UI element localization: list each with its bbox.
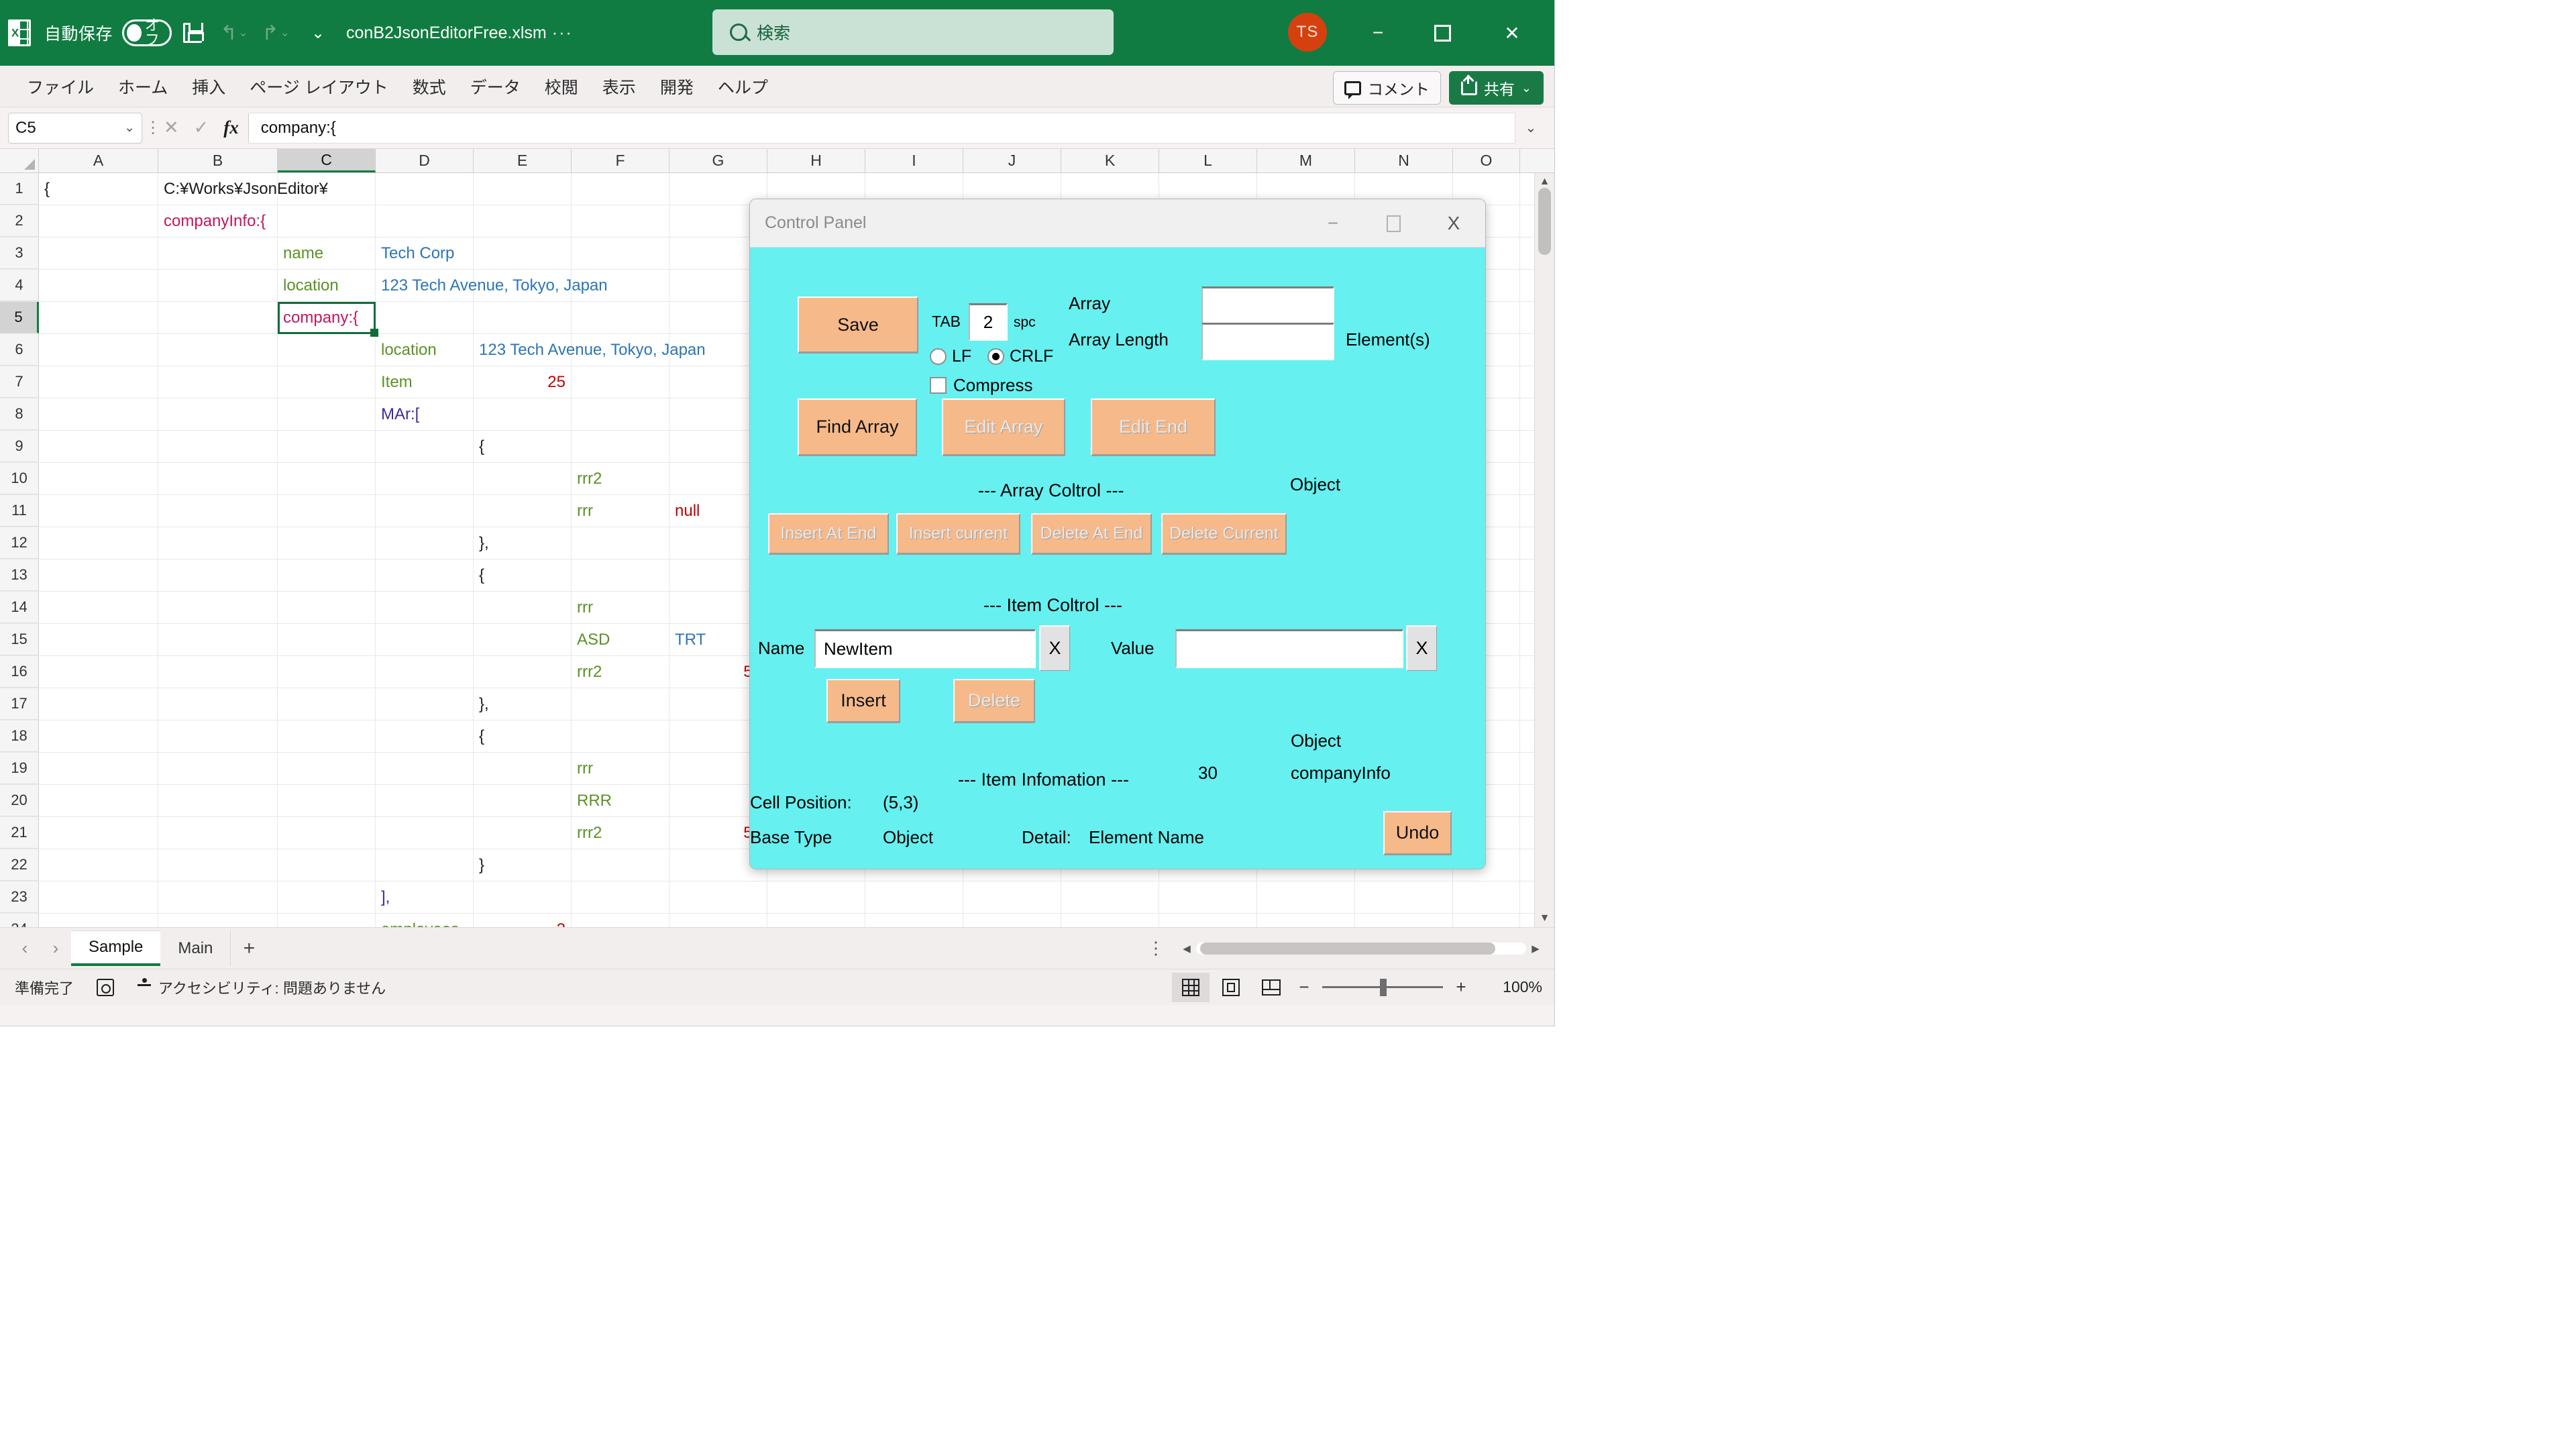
row-header-10[interactable]: 10 [0,463,39,494]
cell-E7[interactable]: 25 [474,366,572,398]
ribbon-right-actions: コメント 共有 ⌄ [1333,71,1544,105]
cell-M23[interactable] [1257,881,1355,913]
cell-E11[interactable] [474,495,572,527]
expand-formula-bar-icon[interactable]: ⌄ [1515,119,1546,136]
column-header-l[interactable]: L [1159,149,1257,172]
cell-F19[interactable]: rrr [572,753,669,784]
formula-bar-divider: ⋮ [152,115,154,142]
row-header-18[interactable]: 18 [0,720,39,752]
row-header-5[interactable]: 5 [0,302,39,333]
cell-B23[interactable] [158,881,278,913]
sheet-options-icon[interactable]: ⋮ [1147,938,1166,959]
row-header-22[interactable]: 22 [0,849,39,881]
save-icon[interactable] [172,0,213,66]
cell-E3[interactable] [474,237,572,269]
cell-D1[interactable] [376,173,474,205]
cell-D10[interactable] [376,463,474,494]
cell-D15[interactable] [376,624,474,655]
cell-C20[interactable] [278,785,376,816]
cell-C23[interactable] [278,881,376,913]
zoom-level-label[interactable]: 100% [1482,978,1542,996]
clear-name-button[interactable]: X [1039,625,1070,671]
cell-F3[interactable] [572,237,669,269]
column-header-b[interactable]: B [158,149,278,172]
chevron-left-icon[interactable]: ‹ [9,933,40,964]
array-input[interactable] [1201,286,1334,324]
cell-A4[interactable] [39,270,158,301]
cell-E8[interactable] [474,398,572,430]
cell-D5[interactable] [376,302,474,333]
cell-C3[interactable]: name [278,237,376,269]
info-basetype-object-label: Object [1291,731,1341,751]
cell-A15[interactable] [39,624,158,655]
cell-A18[interactable] [39,720,158,752]
column-header-h[interactable]: H [767,149,865,172]
cancel-icon[interactable]: ✕ [164,117,179,138]
cell-D12[interactable] [376,527,474,559]
cell-C12[interactable] [278,527,376,559]
comments-label: コメント [1368,76,1430,99]
cell-A8[interactable] [39,398,158,430]
tab-formulas[interactable]: 数式 [402,71,457,102]
cell-D20[interactable] [376,785,474,816]
cell-E23[interactable] [474,881,572,913]
cell-C13[interactable] [278,559,376,591]
accessibility-status[interactable]: アクセシビリティ: 問題ありません [137,977,386,998]
radio-crlf-label: CRLF [1010,347,1053,366]
hscroll-left-icon[interactable]: ◀ [1177,943,1196,955]
status-bar-right: − + 100% [1172,973,1542,1002]
accessibility-label: アクセシビリティ: 問題ありません [158,977,386,998]
name-box[interactable]: C5 ⌄ [8,113,142,144]
scroll-down-icon[interactable]: ▼ [1535,910,1554,927]
cell-A16[interactable] [39,656,158,688]
cell-A9[interactable] [39,431,158,462]
cell-C15[interactable] [278,624,376,655]
cell-E10[interactable] [474,463,572,494]
cell-O23[interactable] [1453,881,1520,913]
clear-value-button[interactable]: X [1406,625,1437,671]
row-header-4[interactable]: 4 [0,270,39,301]
control-panel-body: Save TAB 2 spc LF CRLF Compress Array Ar… [750,248,1485,869]
row-header-12[interactable]: 12 [0,527,39,559]
column-header-k[interactable]: K [1061,149,1159,172]
autosave-label: 自動保存 [44,21,113,45]
cell-D3[interactable]: Tech Corp [376,237,474,269]
row-header-23[interactable]: 23 [0,881,39,913]
insert-function-icon[interactable]: fx [223,117,239,138]
cell-F8[interactable] [572,398,669,430]
edit-end-button: Edit End [1091,398,1216,456]
hscroll-right-icon[interactable]: ▶ [1526,943,1545,955]
column-header-i[interactable]: I [865,149,963,172]
confirm-icon[interactable]: ✓ [194,117,209,138]
horizontal-scroll-thumb[interactable] [1200,943,1495,955]
column-header-m[interactable]: M [1257,149,1355,172]
search-input[interactable]: 検索 [712,9,1114,55]
cell-B1[interactable]: C:¥Works¥JsonEditor¥ [158,173,278,205]
vertical-scrollbar[interactable]: ▲ ▼ [1534,173,1554,927]
control-panel-minimize-button[interactable]: − [1304,199,1362,248]
cell-A3[interactable] [39,237,158,269]
cell-E16[interactable] [474,656,572,688]
select-all-corner[interactable] [0,149,39,172]
cell-E12[interactable]: }, [474,527,572,559]
column-header-o[interactable]: O [1453,149,1520,172]
cell-F12[interactable] [572,527,669,559]
cell-E13[interactable]: { [474,559,572,591]
autosave-toggle[interactable]: オフ [122,19,172,46]
cell-F18[interactable] [572,720,669,752]
cell-C18[interactable] [278,720,376,752]
tab-label: TAB [932,313,961,331]
cell-A11[interactable] [39,495,158,527]
comments-button[interactable]: コメント [1333,71,1441,105]
column-header-d[interactable]: D [376,149,474,172]
compress-label: Compress [953,375,1032,396]
row-header-6[interactable]: 6 [0,334,39,366]
insert-current-button: Insert current [896,513,1020,555]
cell-C8[interactable] [278,398,376,430]
window-close-button[interactable]: ✕ [1476,0,1548,66]
row-header-19[interactable]: 19 [0,753,39,784]
cell-F4[interactable] [572,270,669,301]
tab-size-input[interactable]: 2 [969,303,1008,341]
add-sheet-button[interactable]: + [231,931,267,966]
cell-D2[interactable] [376,205,474,237]
save-button[interactable]: Save [798,297,918,354]
cell-B15[interactable] [158,624,278,655]
cell-D11[interactable] [376,495,474,527]
screenshot-root: 自動保存 オフ ↰⌄ ↱⌄ ⌄ conB2JsonEditorFree.xlsm… [0,0,2576,1449]
detail-value: Element Name [1089,827,1204,848]
cell-E21[interactable] [474,817,572,849]
cell-B2[interactable]: companyInfo:{ [158,205,278,237]
name-box-value: C5 [15,119,36,138]
cell-B22[interactable] [158,849,278,881]
control-panel-titlebar[interactable]: Control Panel − X [750,199,1485,248]
cell-A6[interactable] [39,334,158,366]
column-header-e[interactable]: E [474,149,572,172]
cell-B19[interactable] [158,753,278,784]
cell-B18[interactable] [158,720,278,752]
row-header-11[interactable]: 11 [0,495,39,527]
cell-E18[interactable]: { [474,720,572,752]
cell-E6[interactable]: 123 Tech Avenue, Tokyo, Japan [474,334,572,366]
cell-E20[interactable] [474,785,572,816]
delete-button: Delete [953,679,1035,723]
sheet-tab-sample[interactable]: Sample [71,931,160,966]
cell-F15[interactable]: ASD [572,624,669,655]
cell-B11[interactable] [158,495,278,527]
cell-B4[interactable] [158,270,278,301]
formula-input[interactable]: company:{ [248,113,1515,144]
array-control-header: --- Array Coltrol --- [978,480,1124,501]
undo-icon[interactable]: ↰⌄ [213,0,255,66]
cell-D7[interactable]: Item [376,366,474,398]
cell-B6[interactable] [158,334,278,366]
cell-F9[interactable] [572,431,669,462]
cell-C7[interactable] [278,366,376,398]
cell-A17[interactable] [39,688,158,720]
cell-F2[interactable] [572,205,669,237]
cell-A2[interactable] [39,205,158,237]
grid-row: 23], [0,881,1554,914]
cell-A13[interactable] [39,559,158,591]
horizontal-scroll-track[interactable] [1196,943,1526,955]
value-input[interactable] [1175,629,1403,668]
zoom-slider[interactable] [1322,986,1443,988]
cell-D19[interactable] [376,753,474,784]
column-header-j[interactable]: J [963,149,1061,172]
tab-review[interactable]: 校閲 [534,71,589,102]
tab-file[interactable]: ファイル [16,71,105,102]
sheet-tabbar: ‹ › Sample Main + ⋮ ◀ ▶ [0,927,1554,969]
row-header-14[interactable]: 14 [0,592,39,623]
row-header-21[interactable]: 21 [0,817,39,849]
cell-C6[interactable] [278,334,376,366]
avatar[interactable]: TS [1288,13,1327,52]
cell-C22[interactable] [278,849,376,881]
cell-C21[interactable] [278,817,376,849]
accessibility-icon [137,978,152,997]
cell-H23[interactable] [767,881,865,913]
tab-data[interactable]: データ [460,71,531,102]
cell-E1[interactable] [474,173,572,205]
cell-E15[interactable] [474,624,572,655]
cell-C10[interactable] [278,463,376,494]
cell-E14[interactable] [474,592,572,623]
cell-F1[interactable] [572,173,669,205]
cell-C11[interactable] [278,495,376,527]
radio-lf-label: LF [952,347,971,366]
cell-F16[interactable]: rrr2 [572,656,669,688]
filename-more-icon[interactable]: ··· [552,23,573,43]
redo-icon[interactable]: ↱⌄ [255,0,297,66]
row-header-9[interactable]: 9 [0,431,39,462]
cell-N23[interactable] [1355,881,1453,913]
find-array-button[interactable]: Find Array [798,398,917,456]
cell-D4[interactable]: 123 Tech Avenue, Tokyo, Japan [376,270,474,301]
record-macro-icon [97,979,114,996]
cell-A7[interactable] [39,366,158,398]
cell-E5[interactable] [474,302,572,333]
cell-B13[interactable] [158,559,278,591]
cell-B21[interactable] [158,817,278,849]
zoom-in-button[interactable]: + [1450,977,1472,998]
cell-B3[interactable] [158,237,278,269]
cell-C1[interactable] [278,173,376,205]
cell-D16[interactable] [376,656,474,688]
cell-B7[interactable] [158,366,278,398]
item-control-header: --- Item Coltrol --- [983,595,1122,616]
page-layout-view-icon[interactable] [1212,973,1250,1002]
info-number-label: 30 [1198,763,1218,784]
cell-C4[interactable]: location [278,270,376,301]
cell-C2[interactable] [278,205,376,237]
cell-D13[interactable] [376,559,474,591]
cell-B5[interactable] [158,302,278,333]
tab-insert[interactable]: 挿入 [181,71,236,102]
window-minimize-button[interactable]: − [1342,0,1414,66]
formula-bar-icons: ✕ ✓ fx [164,117,239,138]
name-label: Name [758,638,804,659]
column-header-n[interactable]: N [1355,149,1453,172]
value-label: Value [1111,638,1155,659]
cell-C17[interactable] [278,688,376,720]
cell-B8[interactable] [158,398,278,430]
radio-crlf-icon [987,348,1004,365]
cell-E9[interactable]: { [474,431,572,462]
array-length-input[interactable] [1201,323,1334,360]
control-panel-dialog: Control Panel − X Save TAB 2 spc LF CRLF… [749,199,1486,869]
customize-quick-access-icon[interactable]: ⌄ [297,0,338,66]
cell-F11[interactable]: rrr [572,495,669,527]
status-mode-label: 準備完了 [15,977,74,998]
cell-A10[interactable] [39,463,158,494]
cell-C14[interactable] [278,592,376,623]
row-header-1[interactable]: 1 [0,173,39,205]
name-input[interactable]: NewItem [814,629,1036,668]
column-header-c[interactable]: C [278,149,376,172]
cell-A1[interactable]: { [39,173,158,205]
cell-G23[interactable] [669,881,767,913]
cell-J23[interactable] [963,881,1061,913]
cell-F14[interactable]: rrr [572,592,669,623]
share-label: 共有 [1484,76,1515,99]
window-maximize-button[interactable] [1406,0,1479,66]
cell-A22[interactable] [39,849,158,881]
tab-view[interactable]: 表示 [592,71,647,102]
cell-E17[interactable]: }, [474,688,572,720]
zoom-out-button[interactable]: − [1293,977,1316,998]
cell-B10[interactable] [158,463,278,494]
tab-page-layout[interactable]: ページ レイアウト [239,71,398,102]
row-header-15[interactable]: 15 [0,624,39,655]
row-header-7[interactable]: 7 [0,366,39,398]
cell-E22[interactable]: } [474,849,572,881]
cell-D6[interactable]: location [376,334,474,366]
cell-C19[interactable] [278,753,376,784]
row-header-16[interactable]: 16 [0,656,39,688]
spc-label: spc [1014,315,1036,331]
normal-view-icon[interactable] [1172,973,1210,1002]
cell-E4[interactable] [474,270,572,301]
horizontal-scrollbar[interactable]: ◀ ▶ [1177,939,1545,958]
cell-F20[interactable]: RRR [572,785,669,816]
row-header-20[interactable]: 20 [0,785,39,816]
tab-developer[interactable]: 開発 [649,71,704,102]
cell-D21[interactable] [376,817,474,849]
cell-F6[interactable] [572,334,669,366]
cell-A12[interactable] [39,527,158,559]
cell-D14[interactable] [376,592,474,623]
cell-F23[interactable] [572,881,669,913]
cell-F10[interactable]: rrr2 [572,463,669,494]
cell-L23[interactable] [1159,881,1257,913]
cell-B20[interactable] [158,785,278,816]
delete-at-end-button: Delete At End [1031,513,1152,555]
column-header-f[interactable]: F [572,149,669,172]
record-macro-button[interactable] [97,979,114,996]
cell-C9[interactable] [278,431,376,462]
row-header-2[interactable]: 2 [0,205,39,237]
radio-lf[interactable]: LF [930,347,971,366]
share-icon [1461,80,1477,95]
comment-icon [1344,81,1361,95]
document-filename: conB2JsonEditorFree.xlsm [346,23,547,43]
control-panel-close-button[interactable]: X [1425,199,1483,248]
row-header-13[interactable]: 13 [0,559,39,591]
cell-A21[interactable] [39,817,158,849]
cell-D18[interactable] [376,720,474,752]
cell-B16[interactable] [158,656,278,688]
sheet-tab-main[interactable]: Main [160,931,231,966]
window-titlebar: 自動保存 オフ ↰⌄ ↱⌄ ⌄ conB2JsonEditorFree.xlsm… [0,0,1554,66]
column-header-g[interactable]: G [669,149,767,172]
control-panel-maximize-button[interactable] [1364,199,1422,248]
cell-F13[interactable] [572,559,669,591]
cell-F5[interactable] [572,302,669,333]
cell-C5[interactable]: company:{ [278,302,376,333]
cell-B17[interactable] [158,688,278,720]
radio-crlf[interactable]: CRLF [987,347,1053,366]
cell-D17[interactable] [376,688,474,720]
cell-D23[interactable]: ], [376,881,474,913]
row-header-17[interactable]: 17 [0,688,39,720]
cell-D8[interactable]: MAr:[ [376,398,474,430]
cell-B14[interactable] [158,592,278,623]
info-name-label: companyInfo [1291,763,1391,784]
compress-checkbox[interactable]: Compress [930,375,1032,396]
share-button[interactable]: 共有 ⌄ [1449,71,1544,105]
cell-F21[interactable]: rrr2 [572,817,669,849]
row-header-3[interactable]: 3 [0,237,39,269]
cell-A20[interactable] [39,785,158,816]
tab-home[interactable]: ホーム [107,71,178,102]
cell-F17[interactable] [572,688,669,720]
cell-position-label: Cell Position: [750,792,852,813]
cell-E19[interactable] [474,753,572,784]
vertical-scroll-thumb[interactable] [1538,188,1551,255]
cell-position-value: (5,3) [883,792,918,813]
cell-B9[interactable] [158,431,278,462]
formula-bar: C5 ⌄ ⋮ ✕ ✓ fx company:{ ⌄ [0,107,1554,149]
cell-A14[interactable] [39,592,158,623]
cell-E2[interactable] [474,205,572,237]
insert-button[interactable]: Insert [826,679,900,723]
page-break-view-icon[interactable] [1252,973,1290,1002]
chevron-right-icon[interactable]: › [40,933,71,964]
cell-D9[interactable] [376,431,474,462]
delete-current-button: Delete Current [1161,513,1287,555]
cell-F22[interactable] [572,849,669,881]
cell-F7[interactable] [572,366,669,398]
zoom-slider-thumb[interactable] [1380,979,1387,996]
column-header-a[interactable]: A [39,149,158,172]
cell-I23[interactable] [865,881,963,913]
row-header-8[interactable]: 8 [0,398,39,430]
cell-B12[interactable] [158,527,278,559]
cell-A19[interactable] [39,753,158,784]
cell-K23[interactable] [1061,881,1159,913]
cell-C16[interactable] [278,656,376,688]
undo-button[interactable]: Undo [1383,811,1452,855]
cell-A23[interactable] [39,881,158,913]
tab-help[interactable]: ヘルプ [707,71,779,102]
cell-A5[interactable] [39,302,158,333]
cell-D22[interactable] [376,849,474,881]
